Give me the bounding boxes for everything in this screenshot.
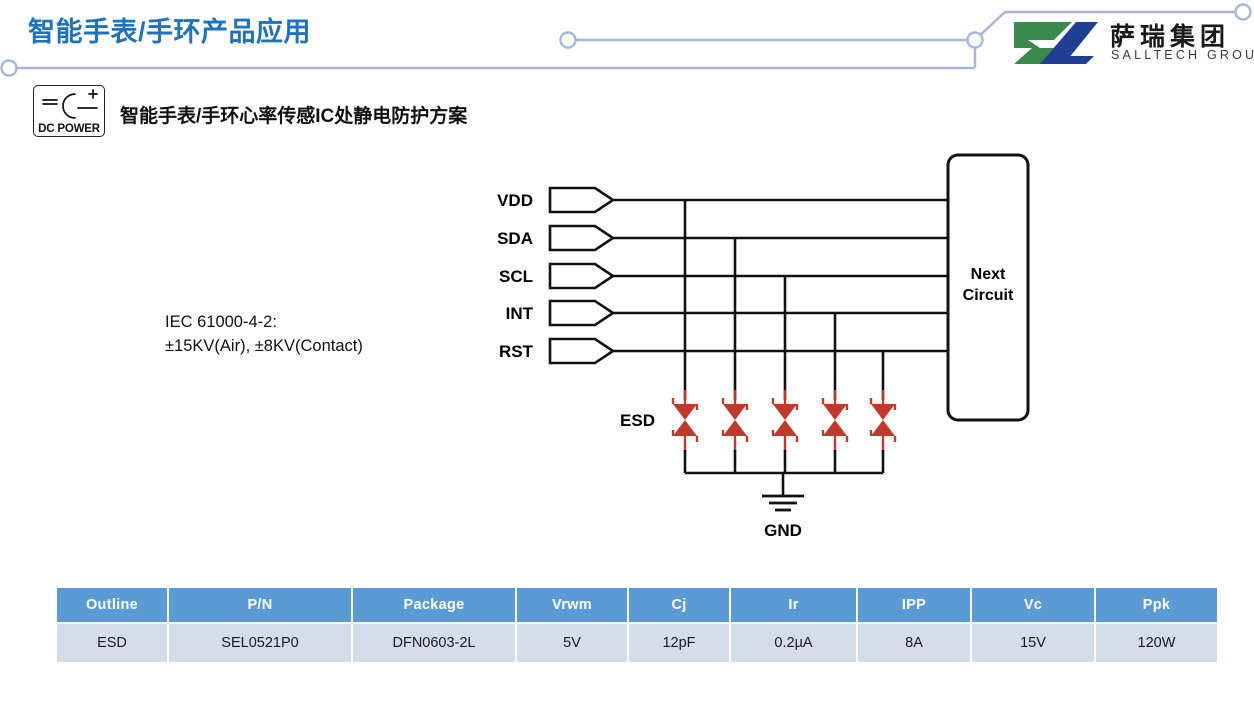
- pin-label-scl: SCL: [499, 267, 533, 286]
- esd-diode-scl: [773, 390, 797, 452]
- esd-diode-sda: [723, 390, 747, 452]
- table-header-ipp: IPP: [858, 588, 970, 622]
- table-header-ir: Ir: [731, 588, 856, 622]
- table-header-outline: Outline: [57, 588, 167, 622]
- table-header-row: Outline P/N Package Vrwm Cj Ir IPP Vc Pp…: [57, 588, 1217, 622]
- pin-connector-vdd: [550, 188, 613, 212]
- cell-ipp: 8A: [858, 624, 970, 662]
- table-header-ppk: Ppk: [1096, 588, 1217, 622]
- specification-table: Outline P/N Package Vrwm Cj Ir IPP Vc Pp…: [55, 586, 1219, 664]
- cell-pn: SEL0521P0: [169, 624, 351, 662]
- table-header-package: Package: [353, 588, 515, 622]
- cell-vrwm: 5V: [517, 624, 627, 662]
- ground-symbol-icon: [762, 496, 804, 510]
- esd-protection-schematic: VDD SDA SCL INT RST: [0, 0, 1254, 580]
- cell-package: DFN0603-2L: [353, 624, 515, 662]
- esd-diode-int: [823, 390, 847, 452]
- pin-label-sda: SDA: [497, 229, 533, 248]
- table-header-cj: Cj: [629, 588, 729, 622]
- cell-ir: 0.2µA: [731, 624, 856, 662]
- next-circuit-label-line1: Next: [971, 266, 1006, 283]
- esd-diode-rst: [871, 390, 895, 452]
- pin-connector-rst: [550, 339, 613, 363]
- next-circuit-label-line2: Circuit: [963, 287, 1014, 304]
- pin-label-vdd: VDD: [497, 191, 533, 210]
- cell-cj: 12pF: [629, 624, 729, 662]
- table-header-vrwm: Vrwm: [517, 588, 627, 622]
- pin-connector-sda: [550, 226, 613, 250]
- pin-connector-scl: [550, 264, 613, 288]
- esd-label: ESD: [620, 411, 655, 430]
- cell-vc: 15V: [972, 624, 1094, 662]
- pin-connector-int: [550, 301, 613, 325]
- esd-diode-vdd: [673, 390, 697, 452]
- cell-ppk: 120W: [1096, 624, 1217, 662]
- table-header-vc: Vc: [972, 588, 1094, 622]
- table-header-pn: P/N: [169, 588, 351, 622]
- table-row: ESD SEL0521P0 DFN0603-2L 5V 12pF 0.2µA 8…: [57, 624, 1217, 662]
- pin-label-int: INT: [506, 304, 534, 323]
- gnd-label: GND: [764, 521, 802, 540]
- cell-outline: ESD: [57, 624, 167, 662]
- pin-label-rst: RST: [499, 342, 534, 361]
